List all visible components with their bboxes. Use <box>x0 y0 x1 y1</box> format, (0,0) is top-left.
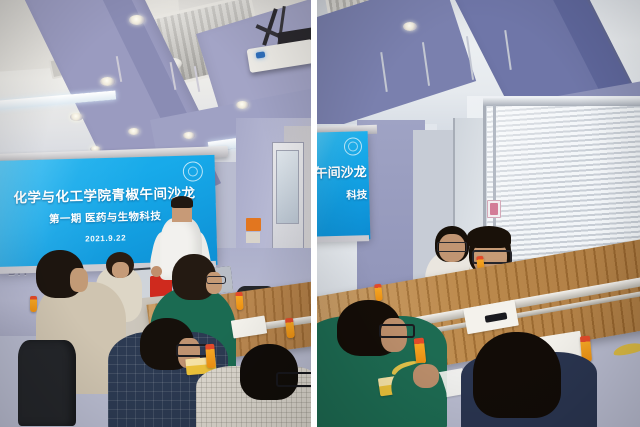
wall-safety-sign <box>487 200 501 218</box>
downlight-icon <box>129 15 145 25</box>
speaker-hair <box>467 226 511 248</box>
blinds-headrail <box>483 98 640 106</box>
juice-bottle <box>30 296 37 312</box>
juice-bottle <box>235 292 243 310</box>
door-glass-pane <box>276 150 299 224</box>
downlight-icon <box>70 113 83 121</box>
office-chair <box>18 340 76 426</box>
glasses-icon <box>276 372 311 387</box>
photo-collage: BIT 化学与化工学院青椒午间沙龙 第一期 医药与生物科技 2021.9.22 <box>0 0 640 427</box>
downlight-icon <box>403 22 417 31</box>
glasses-icon <box>206 276 226 284</box>
attendee-face <box>112 262 129 278</box>
banana <box>612 341 640 357</box>
glasses-icon <box>437 242 467 252</box>
projection-screen-right: 午间沙龙 科技 <box>317 131 370 241</box>
photo-right: 午间沙龙 科技 <box>317 0 640 427</box>
photo-left: BIT 化学与化工学院青椒午间沙龙 第一期 医药与生物科技 2021.9.22 <box>0 0 311 427</box>
presenter-hand <box>151 266 162 277</box>
downlight-icon <box>128 128 140 135</box>
slide-title-fragment: 午间沙龙 <box>317 161 367 181</box>
glasses-icon <box>176 344 208 357</box>
attendee-face <box>70 268 88 292</box>
downlight-icon <box>100 77 115 86</box>
presenter-hair <box>171 196 193 208</box>
downlight-icon <box>183 132 195 139</box>
juice-bottle <box>205 344 216 369</box>
slide-subtitle-fragment: 科技 <box>346 187 367 203</box>
attendee-hand <box>413 364 439 388</box>
downlight-icon <box>236 101 249 109</box>
glasses-icon <box>379 324 415 338</box>
safety-sign-pictogram-icon <box>490 203 498 215</box>
wall-notice-white <box>246 232 260 243</box>
wall-notice-orange <box>246 218 261 231</box>
attendee-head <box>473 332 561 418</box>
